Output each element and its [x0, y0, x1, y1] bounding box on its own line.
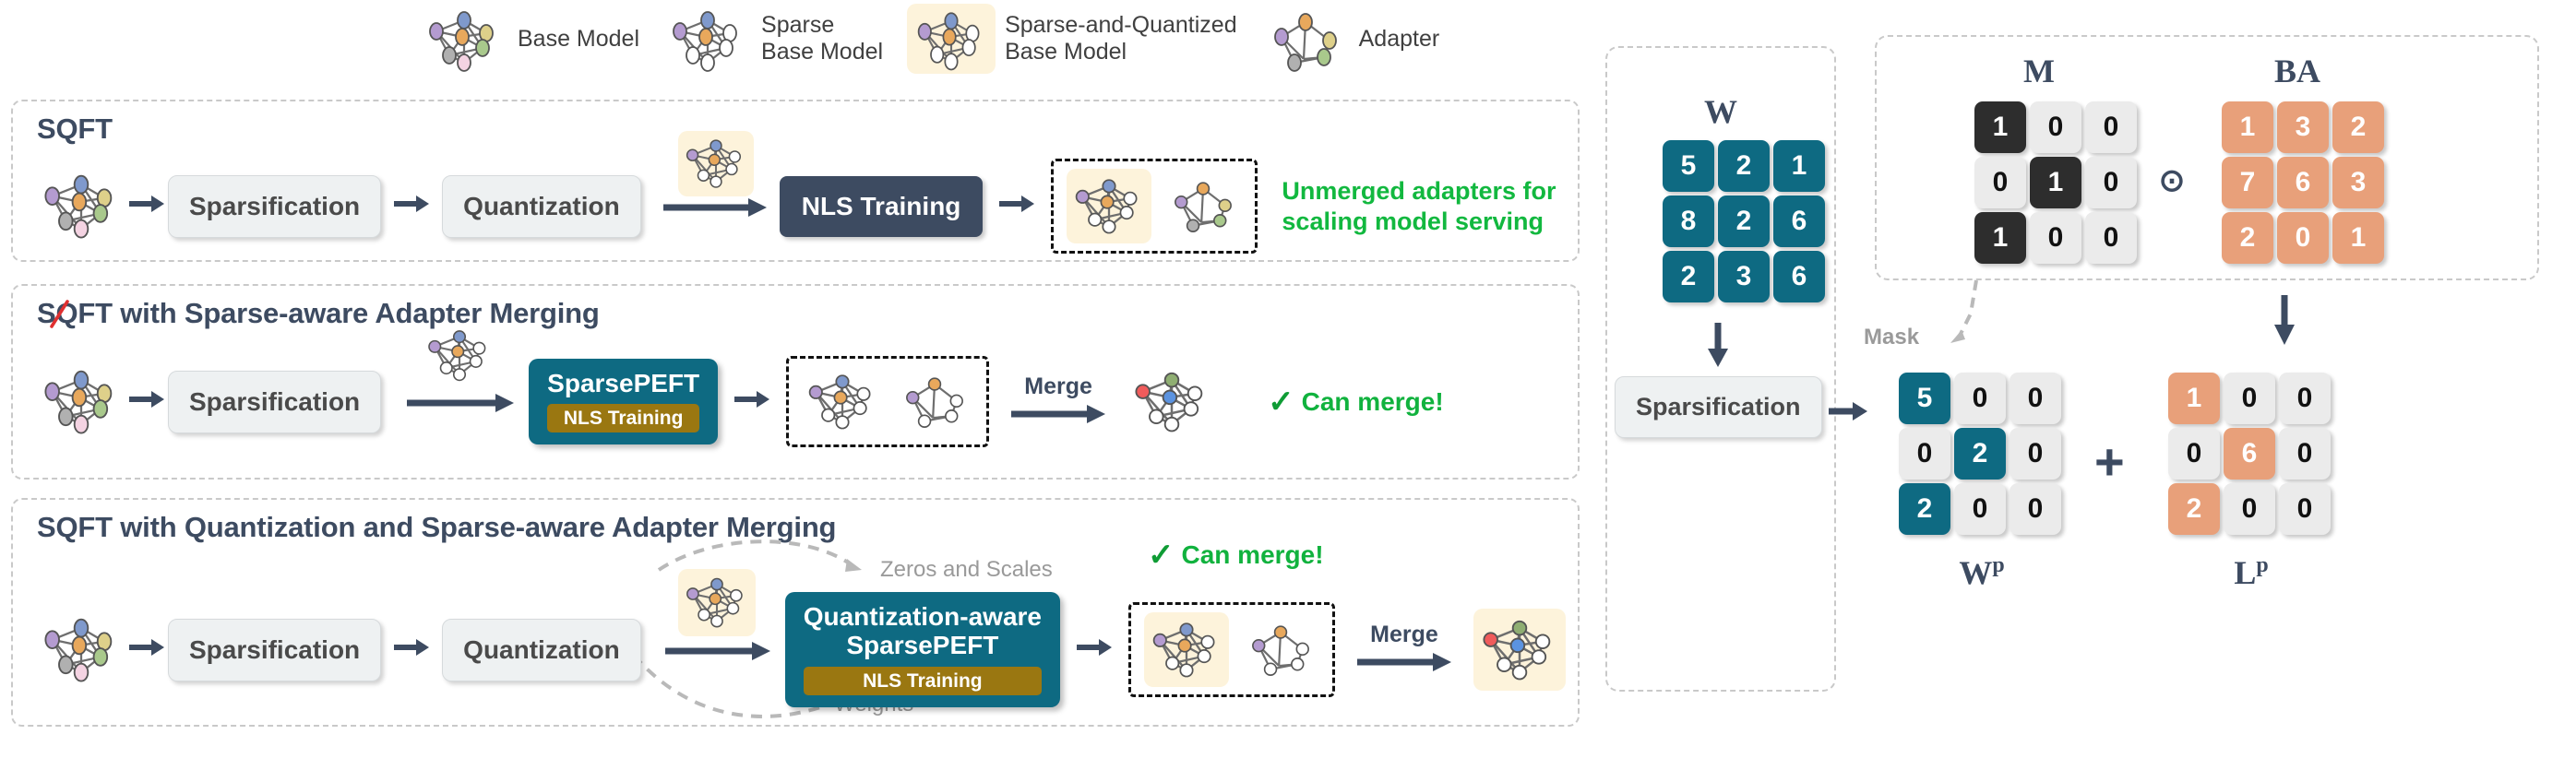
sparsepeft-title: SparsePEFT: [547, 369, 699, 397]
wp-cell: 0: [1954, 373, 2006, 424]
merge-label: Merge: [1370, 622, 1438, 648]
merge-label: Merge: [1024, 373, 1092, 400]
step-sparsification-matrix[interactable]: Sparsification: [1615, 376, 1822, 438]
ba-cell: 3: [2332, 157, 2384, 208]
can-merge-label: Can merge!: [1182, 540, 1324, 570]
sparse-base-model-graph-icon: [422, 323, 497, 388]
sparse-base-model-graph-icon: [663, 4, 752, 74]
unmerged-adapter-group: [1051, 159, 1258, 254]
w-cell: 2: [1663, 251, 1714, 302]
qa-sparsepeft-title-line1: Quantization-aware: [804, 602, 1042, 631]
lp-label: Lp: [2168, 553, 2334, 592]
arrow-right-long-icon: [660, 195, 770, 224]
panel-sqft-sparse-merge: SQFT with Sparse-aware Adapter Merging S…: [11, 284, 1580, 480]
wp-cell: 0: [1954, 483, 2006, 535]
step-quantization[interactable]: Quantization: [442, 175, 641, 238]
lp-cell: 0: [2168, 428, 2220, 480]
base-model-graph-icon: [37, 610, 125, 689]
m-cell: 0: [2030, 101, 2081, 153]
sparse-model-and-adapter-group: [786, 356, 989, 447]
base-model-graph-icon: [420, 4, 508, 74]
w-cell: 1: [1773, 140, 1825, 192]
m-cell: 0: [2085, 212, 2137, 264]
panel-sqft-quant-sparse-merge-title: SQFT with Quantization and Sparse-aware …: [37, 511, 836, 544]
sparse-quantized-base-model-graph-icon: [1067, 169, 1151, 243]
sparse-quantized-base-model-graph-icon: [678, 131, 754, 196]
wp-label: Wp: [1899, 553, 2065, 592]
wp-cell: 0: [2010, 483, 2061, 535]
ba-cell: 3: [2277, 101, 2329, 153]
legend-label-sparse-base-model: Sparse Base Model: [761, 12, 883, 65]
base-model-graph-icon: [37, 362, 125, 441]
arrow-right-long-icon: [662, 639, 774, 668]
merge-arrow-group: Merge: [1354, 622, 1455, 679]
m-matrix: 1 0 0 0 1 0 1 0 0: [1974, 101, 2137, 264]
arrow-right-icon: [125, 387, 168, 416]
lp-cell: 0: [2279, 483, 2331, 535]
w-cell: 6: [1773, 251, 1825, 302]
arrow-right-long-icon: [403, 391, 518, 420]
panel-sqft-title: SQFT: [37, 113, 113, 146]
wp-cell: 0: [2010, 373, 2061, 424]
w-cell: 3: [1718, 251, 1770, 302]
m-cell: 0: [1974, 157, 2026, 208]
step-sparsification[interactable]: Sparsification: [168, 175, 381, 238]
legend-label-base-model: Base Model: [518, 26, 639, 53]
mask-pointer-icon: [1930, 277, 1995, 349]
qa-sparsepeft-title-line2: SparsePEFT: [846, 631, 998, 659]
check-mark-icon: ✓: [1148, 537, 1175, 574]
sparse-quantized-base-model-graph-icon: [907, 4, 996, 74]
arrow-right-icon: [125, 192, 168, 220]
arrow-right-icon: [390, 192, 433, 220]
wp-cell: 0: [1899, 428, 1950, 480]
sparse-quantized-base-model-graph-icon: [1144, 612, 1229, 687]
adapter-graph-icon: [1164, 172, 1242, 241]
legend-item-adapter: Adapter: [1261, 4, 1464, 74]
w-cell: 5: [1663, 140, 1714, 192]
step-quantization[interactable]: Quantization: [442, 619, 641, 681]
w-label: W: [1656, 92, 1785, 131]
arrow-right-icon: [996, 192, 1038, 220]
arrow-down-icon: [1701, 321, 1735, 369]
wp-matrix: 5 0 0 0 2 0 2 0 0: [1899, 373, 2061, 535]
m-cell: 0: [2085, 101, 2137, 153]
legend-label-adapter: Adapter: [1359, 26, 1440, 53]
m-cell: 1: [2030, 157, 2081, 208]
legend: Base Model Sparse Base Model: [420, 4, 1463, 74]
legend-item-sparse-base-model: Sparse Base Model: [663, 4, 907, 74]
ba-cell: 0: [2277, 212, 2329, 264]
ba-label: BA: [2214, 52, 2380, 90]
ba-matrix: 1 3 2 7 6 3 2 0 1: [2222, 101, 2384, 264]
wp-cell: 5: [1899, 373, 1950, 424]
step-sparsepeft[interactable]: SparsePEFT NLS Training: [529, 359, 718, 445]
arrow-right-icon: [125, 635, 168, 664]
can-merge-label: Can merge!: [1302, 387, 1444, 417]
feedback-label-zeros-scales: Zeros and Scales: [880, 557, 1053, 583]
lp-cell: 2: [2168, 483, 2220, 535]
nls-training-badge: NLS Training: [547, 404, 699, 433]
plus-operator-icon: +: [2094, 432, 2125, 492]
lp-cell: 0: [2224, 483, 2275, 535]
wp-cell: 2: [1954, 428, 2006, 480]
w-cell: 2: [1718, 195, 1770, 247]
w-cell: 6: [1773, 195, 1825, 247]
wp-cell: 2: [1899, 483, 1950, 535]
nls-training-badge: NLS Training: [804, 667, 1042, 696]
step-quantization-aware-sparsepeft[interactable]: Quantization-aware SparsePEFT NLS Traini…: [785, 592, 1060, 707]
m-label: M: [1956, 52, 2122, 90]
arrow-right-long-icon: [1008, 402, 1109, 431]
panel-sqft-quant-sparse-merge: SQFT with Quantization and Sparse-aware …: [11, 498, 1580, 727]
lp-cell: 0: [2224, 373, 2275, 424]
w-cell: 8: [1663, 195, 1714, 247]
arrow-right-long-icon: [1354, 650, 1455, 679]
lp-cell: 1: [2168, 373, 2220, 424]
step-sparsification[interactable]: Sparsification: [168, 371, 381, 433]
check-mark-icon: ✓: [1268, 384, 1294, 421]
m-cell: 1: [1974, 101, 2026, 153]
can-merge-indicator: ✓ Can merge!: [1268, 384, 1444, 421]
ba-cell: 2: [2332, 101, 2384, 153]
lp-cell: 0: [2279, 373, 2331, 424]
wp-cell: 0: [2010, 428, 2061, 480]
lp-cell: 6: [2224, 428, 2275, 480]
ba-cell: 7: [2222, 157, 2273, 208]
sparse-base-model-graph-icon: [802, 366, 883, 437]
legend-label-sparse-quantized-base-model: Sparse-and-Quantized Base Model: [1005, 12, 1237, 65]
sparse-quantized-base-model-graph-icon: [678, 569, 756, 636]
m-cell: 1: [1974, 212, 2026, 264]
panel-sqft-sparse-merge-title: SQFT with Sparse-aware Adapter Merging: [37, 297, 600, 330]
merged-model-graph-icon: [1127, 362, 1216, 441]
matrix-illustration: W 5 2 1 8 2 6 2 3 6 Sparsification M 1 0…: [1605, 0, 2565, 770]
adapter-graph-icon: [1242, 615, 1319, 684]
mask-label: Mask: [1864, 325, 1919, 350]
base-model-graph-icon: [37, 167, 125, 245]
pipeline-sqft-sparse-merge: Sparsification: [37, 356, 1444, 447]
adapter-graph-icon: [1261, 4, 1350, 74]
step-nls-training[interactable]: NLS Training: [780, 176, 984, 237]
arrow-right-icon: [1825, 398, 1871, 424]
arrow-right-icon: [731, 387, 773, 416]
panel-sqft: SQFT Sparsification: [11, 100, 1580, 262]
pipeline-sqft-quant-sparse-merge: Sparsification Quantization: [37, 592, 1566, 707]
ba-cell: 6: [2277, 157, 2329, 208]
legend-item-sparse-quantized-base-model: Sparse-and-Quantized Base Model: [907, 4, 1261, 74]
arrow-right-icon: [390, 635, 433, 664]
merge-arrow-group: Merge: [1008, 373, 1109, 431]
arrow-down-icon: [2268, 293, 2301, 347]
w-cell: 2: [1718, 140, 1770, 192]
ba-cell: 1: [2332, 212, 2384, 264]
ba-cell: 1: [2222, 101, 2273, 153]
can-merge-indicator: ✓ Can merge!: [1148, 537, 1324, 574]
quantized-model-and-adapter-group: [1128, 602, 1335, 697]
arrow-right-icon: [1073, 635, 1115, 664]
hadamard-product-icon: ⊙: [2150, 159, 2194, 203]
lp-matrix: 1 0 0 0 6 0 2 0 0: [2168, 373, 2331, 535]
merged-quantized-model-graph-icon: [1473, 609, 1566, 691]
m-cell: 0: [2030, 212, 2081, 264]
adapter-graph-icon: [896, 367, 973, 436]
ba-cell: 2: [2222, 212, 2273, 264]
step-sparsification[interactable]: Sparsification: [168, 619, 381, 681]
unmerged-adapters-note: Unmerged adapters for scaling model serv…: [1282, 176, 1556, 237]
legend-item-base-model: Base Model: [420, 4, 663, 74]
lp-cell: 0: [2279, 428, 2331, 480]
pipeline-sqft: Sparsification Quantization: [37, 159, 1556, 254]
w-matrix: 5 2 1 8 2 6 2 3 6: [1663, 140, 1825, 302]
m-cell: 0: [2085, 157, 2137, 208]
